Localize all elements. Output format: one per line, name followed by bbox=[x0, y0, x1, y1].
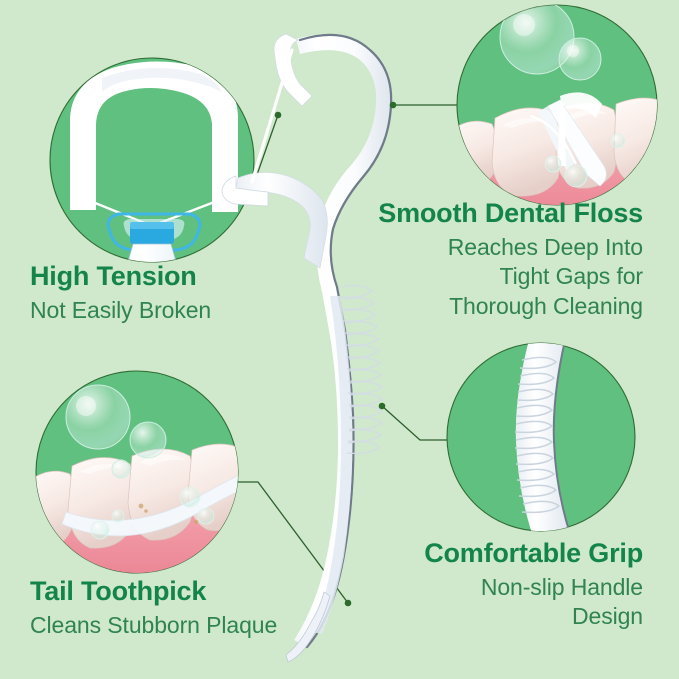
feature-subtitle-comfortable-grip: Non-slip Handle Design bbox=[353, 573, 643, 632]
feature-title-high-tension: High Tension bbox=[30, 263, 211, 290]
feature-label-tail-toothpick: Tail Toothpick Cleans Stubborn Plaque bbox=[30, 578, 277, 640]
feature-subtitle-smooth-dental-floss: Reaches Deep Into Tight Gaps for Thoroug… bbox=[343, 233, 643, 321]
callout-tail-toothpick bbox=[28, 371, 254, 582]
feature-subtitle-tail-toothpick: Cleans Stubborn Plaque bbox=[30, 611, 277, 640]
connector-dot-comfortable-grip bbox=[379, 403, 386, 410]
callout-smooth-dental-floss bbox=[450, 0, 672, 220]
connector-dot-tail-toothpick bbox=[345, 600, 352, 607]
feature-label-comfortable-grip: Comfortable Grip Non-slip Handle Design bbox=[353, 540, 643, 632]
feature-subtitle-line: Non-slip Handle bbox=[353, 573, 643, 602]
feature-subtitle-line: Not Easily Broken bbox=[30, 296, 211, 325]
feature-label-high-tension: High Tension Not Easily Broken bbox=[30, 263, 211, 325]
feature-subtitle-line: Reaches Deep Into bbox=[343, 233, 643, 262]
connector-dot-smooth-floss bbox=[390, 102, 397, 109]
feature-subtitle-line: Cleans Stubborn Plaque bbox=[30, 611, 277, 640]
feature-title-comfortable-grip: Comfortable Grip bbox=[353, 540, 643, 567]
connector-comfortable-grip-line bbox=[382, 406, 447, 440]
floss-thread-main bbox=[252, 50, 292, 182]
connector-dot-high-tension bbox=[275, 112, 282, 119]
feature-title-tail-toothpick: Tail Toothpick bbox=[30, 578, 277, 605]
feature-subtitle-line: Tight Gaps for bbox=[343, 262, 643, 291]
feature-subtitle-high-tension: Not Easily Broken bbox=[30, 296, 211, 325]
infographic-canvas: High Tension Not Easily Broken Smooth De… bbox=[0, 0, 679, 679]
callout-high-tension bbox=[50, 58, 254, 406]
feature-title-smooth-dental-floss: Smooth Dental Floss bbox=[343, 200, 643, 227]
feature-label-smooth-dental-floss: Smooth Dental Floss Reaches Deep Into Ti… bbox=[343, 200, 643, 321]
feature-subtitle-line: Design bbox=[353, 602, 643, 631]
pick-junction bbox=[234, 172, 327, 268]
feature-subtitle-line: Thorough Cleaning bbox=[343, 292, 643, 321]
callout-comfortable-grip bbox=[447, 336, 635, 540]
